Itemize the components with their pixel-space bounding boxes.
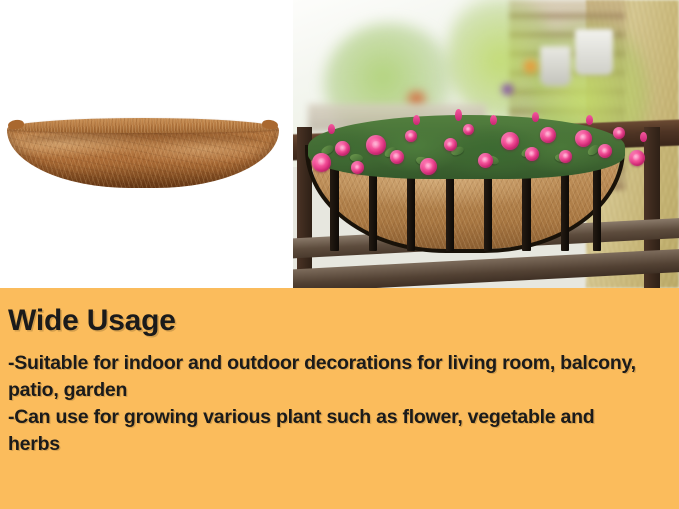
photo-rose xyxy=(390,150,404,164)
usage-bullet: -Suitable for indoor and outdoor decorat… xyxy=(8,350,648,404)
photo-orange-flower-blur xyxy=(521,55,540,78)
photo-rose xyxy=(540,127,556,143)
photo-rose-bud xyxy=(490,115,497,125)
lifestyle-photo-panel xyxy=(293,0,679,288)
photo-rose xyxy=(559,150,572,163)
photo-rose xyxy=(478,153,493,168)
photo-rose xyxy=(525,147,539,161)
photo-hanging-pot-1 xyxy=(575,29,614,75)
product-infographic: Wide Usage -Suitable for indoor and outd… xyxy=(0,0,679,509)
photo-rose xyxy=(598,144,612,158)
photo-rose xyxy=(444,138,457,151)
coir-trough-liner-image xyxy=(7,118,279,190)
photo-rose xyxy=(575,130,592,147)
liner-inner-shadow xyxy=(21,133,265,146)
usage-bullet: -Can use for growing various plant such … xyxy=(8,404,648,458)
image-row xyxy=(0,0,679,288)
product-photo-panel xyxy=(0,0,293,288)
photo-hanging-pot-2 xyxy=(540,46,571,86)
wide-usage-info-panel: Wide Usage -Suitable for indoor and outd… xyxy=(0,288,679,509)
usage-bullet-list: -Suitable for indoor and outdoor decorat… xyxy=(8,350,648,458)
page-title: Wide Usage xyxy=(8,304,176,338)
photo-purple-flower-blur xyxy=(498,81,517,98)
photo-rose xyxy=(405,130,417,142)
photo-rose xyxy=(312,153,331,172)
liner-body xyxy=(7,124,279,188)
photo-rose xyxy=(629,150,645,166)
photo-rose-bud xyxy=(328,124,335,134)
liner-rim xyxy=(9,118,277,133)
photo-rose xyxy=(463,124,474,135)
photo-rose-bud xyxy=(413,115,420,125)
liner-rim-texture xyxy=(9,118,277,133)
